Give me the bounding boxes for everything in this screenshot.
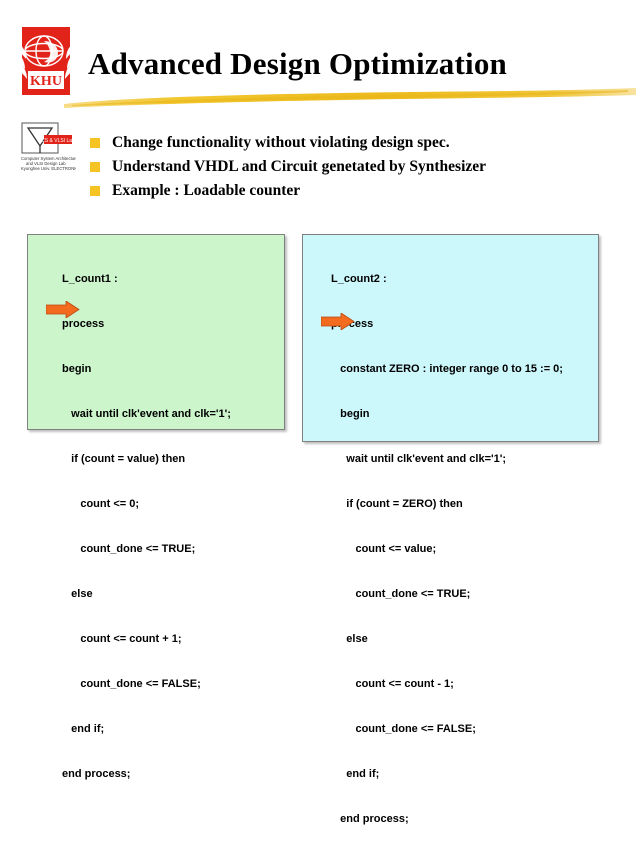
code-line: end process; — [62, 767, 318, 782]
code-line: count <= 0; — [62, 497, 318, 512]
code-box-right: L_count2 : process constant ZERO : integ… — [302, 234, 599, 442]
list-item-label: Example : Loadable counter — [112, 181, 300, 200]
svg-text:CS & VLSI Lab: CS & VLSI Lab — [41, 138, 75, 144]
code-line: end if; — [62, 722, 318, 737]
code-line: end if; — [331, 767, 626, 782]
code-line: wait until clk'event and clk='1'; — [62, 407, 318, 422]
code-line: count <= value; — [331, 542, 626, 557]
code-line: count_done <= FALSE; — [331, 722, 626, 737]
code-lines-left: L_count1 : process begin wait until clk'… — [28, 235, 318, 812]
list-item-label: Change functionality without violating d… — [112, 133, 450, 152]
svg-text:KHU: KHU — [30, 74, 62, 89]
code-line: begin — [62, 362, 318, 377]
list-item: Change functionality without violating d… — [90, 133, 590, 152]
bullet-square-icon — [90, 138, 100, 148]
bullet-square-icon — [90, 162, 100, 172]
code-line: end process; — [331, 812, 626, 827]
code-line: count_done <= TRUE; — [62, 542, 318, 557]
list-item-label: Understand VHDL and Circuit genetated by… — [112, 157, 486, 176]
lab-logo: CS & VLSI Lab Computer System Architectu… — [18, 122, 76, 174]
code-line: count <= count + 1; — [62, 632, 318, 647]
code-line: L_count2 : — [331, 272, 626, 287]
code-line: begin — [331, 407, 626, 422]
code-line: count_done <= TRUE; — [331, 587, 626, 602]
arrow-right-icon-left-box — [46, 301, 80, 318]
code-box-left: L_count1 : process begin wait until clk'… — [27, 234, 285, 430]
bullet-square-icon — [90, 186, 100, 196]
code-line: L_count1 : — [62, 272, 318, 287]
page-title: Advanced Design Optimization — [88, 46, 628, 82]
code-line: else — [62, 587, 318, 602]
bullet-list: Change functionality without violating d… — [90, 133, 590, 205]
code-line: count <= count - 1; — [331, 677, 626, 692]
code-line: else — [331, 632, 626, 647]
code-line: count_done <= FALSE; — [62, 677, 318, 692]
code-line: if (count = ZERO) then — [331, 497, 626, 512]
code-line: if (count = value) then — [62, 452, 318, 467]
code-line: constant ZERO : integer range 0 to 15 :=… — [331, 362, 626, 377]
title-underline-swoosh — [62, 86, 638, 110]
svg-text:Kyunghee Univ. ELECTRONICS: Kyunghee Univ. ELECTRONICS — [21, 166, 76, 171]
list-item: Example : Loadable counter — [90, 181, 590, 200]
arrow-right-icon-right-box — [321, 313, 355, 330]
code-line: wait until clk'event and clk='1'; — [331, 452, 626, 467]
khu-logo: KHU — [14, 27, 78, 95]
list-item: Understand VHDL and Circuit genetated by… — [90, 157, 590, 176]
code-line: process — [331, 317, 626, 332]
code-line: process — [62, 317, 318, 332]
